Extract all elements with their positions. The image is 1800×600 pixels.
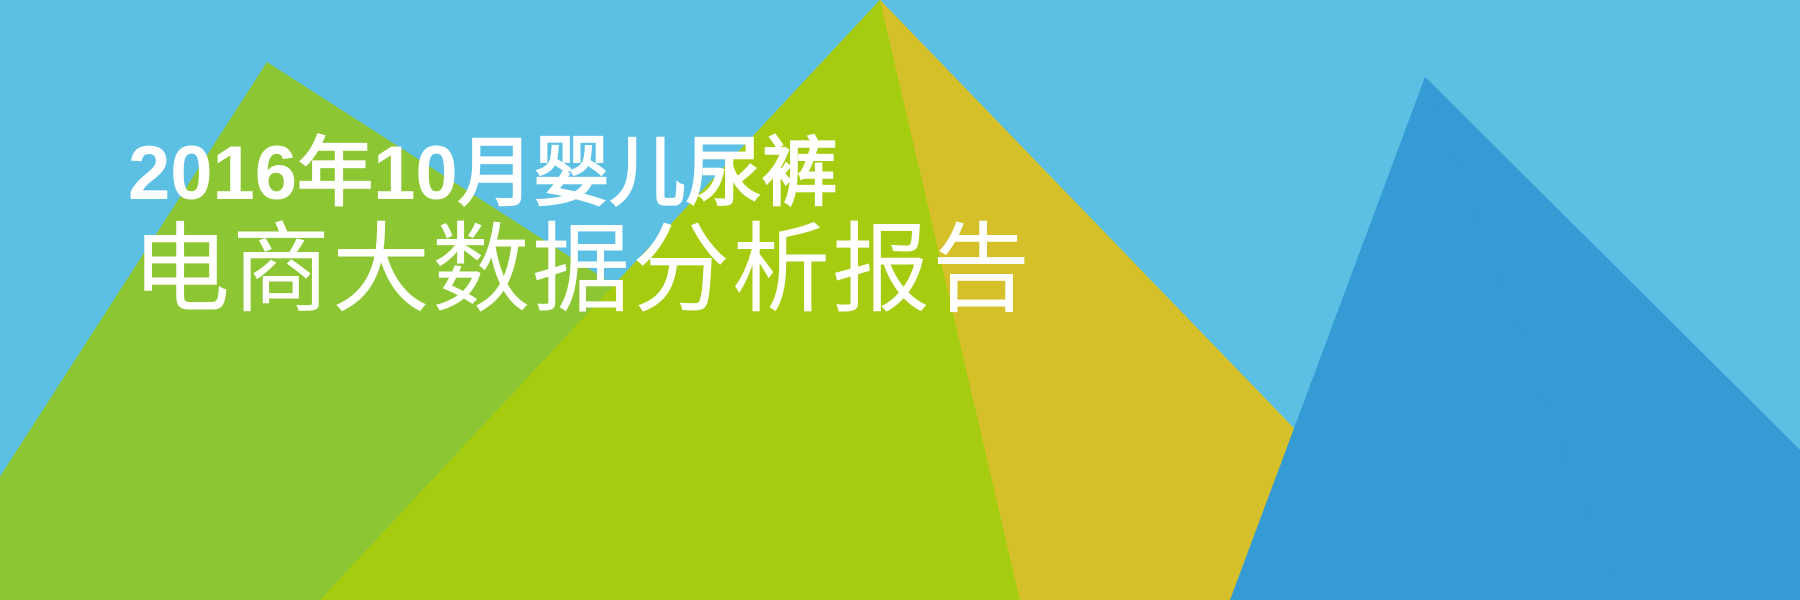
cover-title-line-1: 2016年10月婴儿尿裤 — [128, 136, 1328, 212]
cover-title-line-2: 电商大数据分析报告 — [132, 218, 1328, 321]
report-cover-banner: 2016年10月婴儿尿裤 电商大数据分析报告 — [0, 0, 1800, 600]
cover-title-block: 2016年10月婴儿尿裤 电商大数据分析报告 — [128, 136, 1328, 321]
